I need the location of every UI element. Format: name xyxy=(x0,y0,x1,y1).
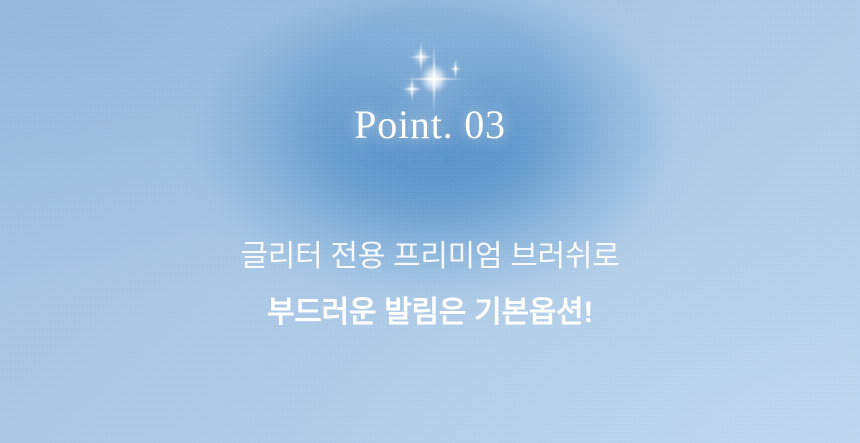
copy-line-primary: 글리터 전용 프리미엄 브러쉬로 xyxy=(0,236,860,278)
copy-line-emphasis: 부드러운 발림은 기본옵션! xyxy=(0,292,860,334)
copy-block: 글리터 전용 프리미엄 브러쉬로 부드러운 발림은 기본옵션! xyxy=(0,236,860,334)
point-title: Point. 03 xyxy=(0,103,860,147)
promo-banner: Point. 03 글리터 전용 프리미엄 브러쉬로 부드러운 발림은 기본옵션… xyxy=(0,0,860,443)
